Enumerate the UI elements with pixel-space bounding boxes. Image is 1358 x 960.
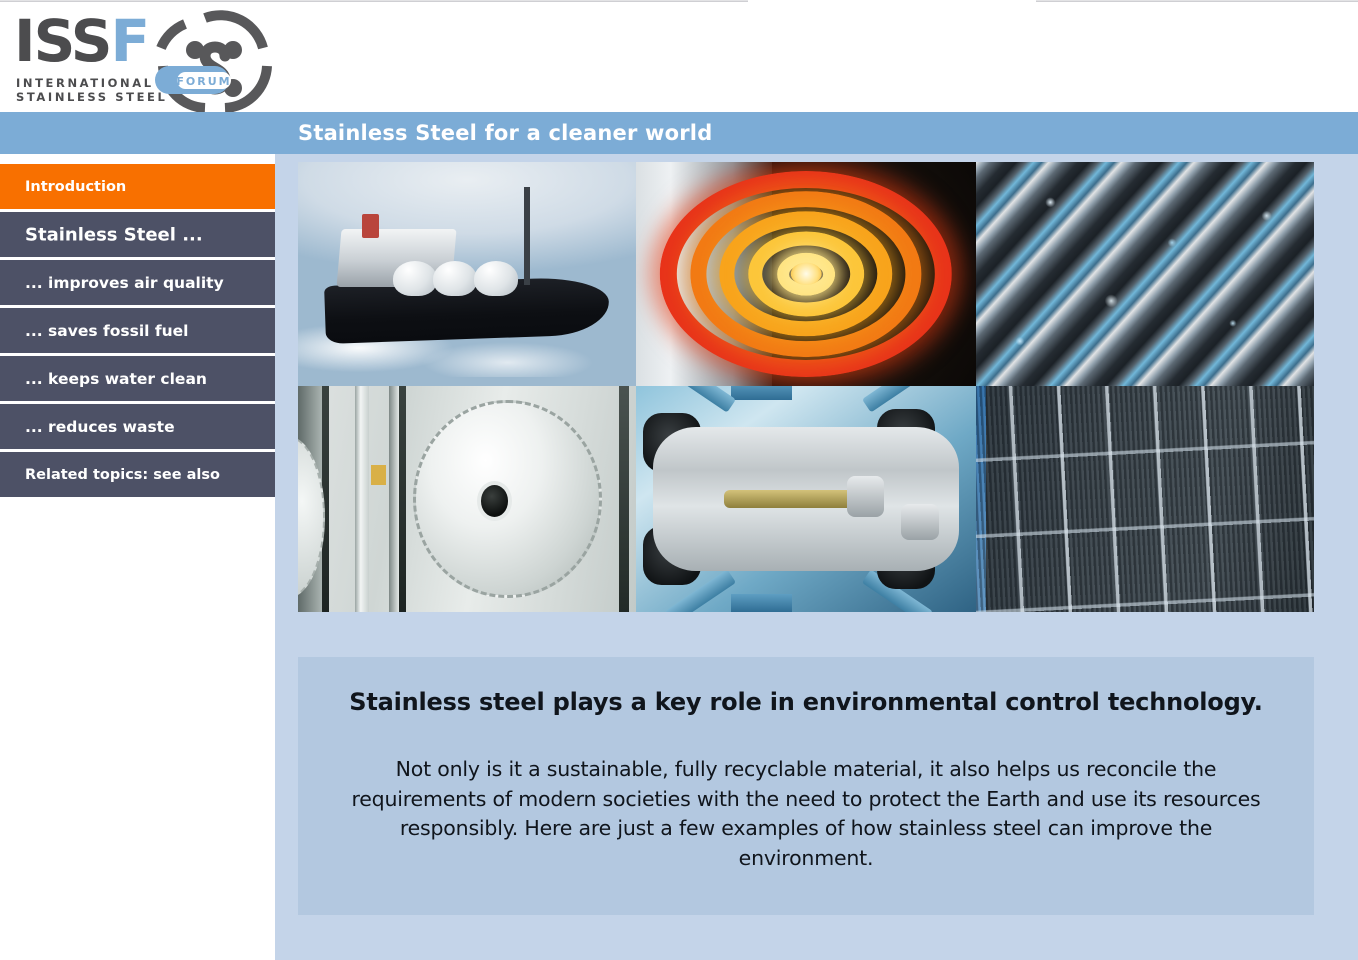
logo-wordmark-main: ISS <box>14 7 111 75</box>
sidebar-item-label: Introduction <box>25 179 126 195</box>
lift-crossbeam <box>731 386 792 400</box>
ship-gas-tank <box>433 261 477 297</box>
issf-circular-logo-icon: FORUM <box>133 10 279 114</box>
sidebar-item-label: ... keeps water clean <box>25 370 207 388</box>
logo-wordmark: ISSF <box>14 12 148 70</box>
coil-center-glow <box>791 263 822 285</box>
logo-forum-text: FORUM <box>176 75 231 88</box>
tank-gap-shadow <box>399 386 406 612</box>
image-gallery-grid <box>298 162 1314 612</box>
lift-arm <box>665 386 736 412</box>
ship-gas-tank <box>474 261 518 297</box>
sidebar-item-saves-fossil-fuel[interactable]: ... saves fossil fuel <box>0 308 275 353</box>
intro-body-text: Not only is it a sustainable, fully recy… <box>344 755 1268 874</box>
sidebar-item-label: ... saves fossil fuel <box>25 322 188 340</box>
lng-tanker-ship-photo[interactable] <box>298 162 636 386</box>
car-muffler <box>847 476 884 517</box>
sidebar-item-introduction[interactable]: Introduction <box>0 164 275 209</box>
tank-gap-shadow <box>619 386 629 612</box>
tank-warning-label <box>371 465 386 485</box>
tank-body <box>389 386 399 612</box>
page-title-bar: Stainless Steel for a cleaner world <box>0 112 1358 154</box>
sidebar-item-stainless-steel[interactable]: Stainless Steel ... <box>0 212 275 257</box>
sidebar-item-related-topics-see-also[interactable]: Related topics: see also <box>0 452 275 497</box>
chrome-edge-right <box>1036 0 1358 2</box>
page-root: ISSF INTERNATIONALSTAINLESS STEEL FORUM … <box>0 0 1358 960</box>
chrome-edge-left <box>0 0 748 2</box>
solar-panel-array-photo[interactable] <box>976 386 1314 612</box>
intro-text-panel: Stainless steel plays a key role in envi… <box>298 657 1314 915</box>
ship-gas-tank <box>393 261 437 297</box>
page-title: Stainless Steel for a cleaner world <box>298 121 712 145</box>
intro-heading: Stainless steel plays a key role in envi… <box>344 687 1268 717</box>
sidebar-item-reduces-waste[interactable]: ... reduces waste <box>0 404 275 449</box>
ship-funnel <box>362 214 379 239</box>
car-muffler <box>901 504 938 540</box>
water-droplets <box>976 162 1314 386</box>
solar-cell-grid <box>976 386 1314 612</box>
sidebar-item-label: Stainless Steel ... <box>25 224 203 245</box>
wet-ribbed-metal-photo[interactable] <box>976 162 1314 386</box>
sidebar-navigation: IntroductionStainless Steel ...... impro… <box>0 154 275 960</box>
browser-chrome-edge <box>0 0 1358 3</box>
tank-body <box>355 386 369 612</box>
lift-crossbeam <box>731 594 792 612</box>
site-logo[interactable]: ISSF INTERNATIONALSTAINLESS STEEL FORUM <box>0 4 280 112</box>
sidebar-item-improves-air-quality[interactable]: ... improves air quality <box>0 260 275 305</box>
sidebar-item-label: ... improves air quality <box>25 274 224 292</box>
stainless-storage-tanks-photo[interactable] <box>298 386 636 612</box>
sidebar-item-label: ... reduces waste <box>25 418 175 436</box>
ship-mast <box>524 187 529 286</box>
car-undercarriage-photo[interactable] <box>636 386 976 612</box>
main-content: Stainless steel plays a key role in envi… <box>275 154 1358 960</box>
sidebar-item-label: Related topics: see also <box>25 467 220 483</box>
tank-nozzle <box>481 485 508 517</box>
sidebar-item-keeps-water-clean[interactable]: ... keeps water clean <box>0 356 275 401</box>
glowing-heating-coil-photo[interactable] <box>636 162 976 386</box>
